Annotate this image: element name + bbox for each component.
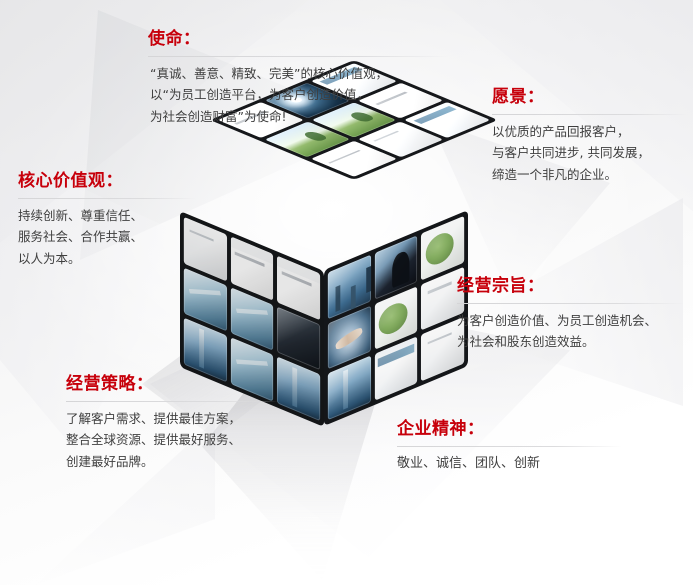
spirit-divider [397, 446, 622, 447]
core-values-divider [18, 198, 196, 199]
core-values-title: 核心价值观： [18, 172, 196, 191]
purpose-divider [457, 303, 685, 304]
text-block-business-purpose: 经营宗旨： 为客户创造价值、为员工创造机会、 为社会和股东创造效益。 [457, 277, 685, 353]
text-block-mission: 使命： “真诚、善意、精致、完美”的核心价值观， 以“为员工创造平台，为客户创造… [148, 30, 448, 127]
mission-title: 使命： [148, 30, 448, 49]
purpose-title: 经营宗旨： [457, 277, 685, 296]
strategy-body: 了解客户需求、提供最佳方案， 整合全球资源、提供最好服务、 创建最好品牌。 [66, 408, 278, 473]
core-values-body: 持续创新、尊重信任、 服务社会、合作共赢、 以人为本。 [18, 205, 196, 270]
mission-divider [148, 56, 448, 57]
strategy-title: 经营策略： [66, 375, 278, 394]
cube-face-right [324, 210, 468, 426]
strategy-divider [66, 401, 278, 402]
vision-title: 愿景： [492, 88, 688, 107]
purpose-body: 为客户创造价值、为员工创造机会、 为社会和股东创造效益。 [457, 310, 685, 353]
rubiks-cube-illustration [172, 118, 454, 418]
spirit-body: 敬业、诚信、团队、创新 [397, 453, 622, 475]
vision-body: 以优质的产品回报客户， 与客户共同进步, 共同发展， 缔造一个非凡的企业。 [492, 121, 688, 186]
cube-body [172, 118, 454, 418]
text-block-corporate-spirit: 企业精神： 敬业、诚信、团队、创新 [397, 420, 622, 475]
text-block-vision: 愿景： 以优质的产品回报客户， 与客户共同进步, 共同发展， 缔造一个非凡的企业… [492, 88, 688, 185]
mission-body: “真诚、善意、精致、完美”的核心价值观， 以“为员工创造平台，为客户创造价值， … [148, 63, 448, 128]
infographic-canvas: 使命： “真诚、善意、精致、完美”的核心价值观， 以“为员工创造平台，为客户创造… [0, 0, 693, 585]
vision-divider [492, 114, 688, 115]
spirit-title: 企业精神： [397, 420, 622, 439]
text-block-business-strategy: 经营策略： 了解客户需求、提供最佳方案， 整合全球资源、提供最好服务、 创建最好… [66, 375, 278, 472]
text-block-core-values: 核心价值观： 持续创新、尊重信任、 服务社会、合作共赢、 以人为本。 [18, 172, 196, 269]
